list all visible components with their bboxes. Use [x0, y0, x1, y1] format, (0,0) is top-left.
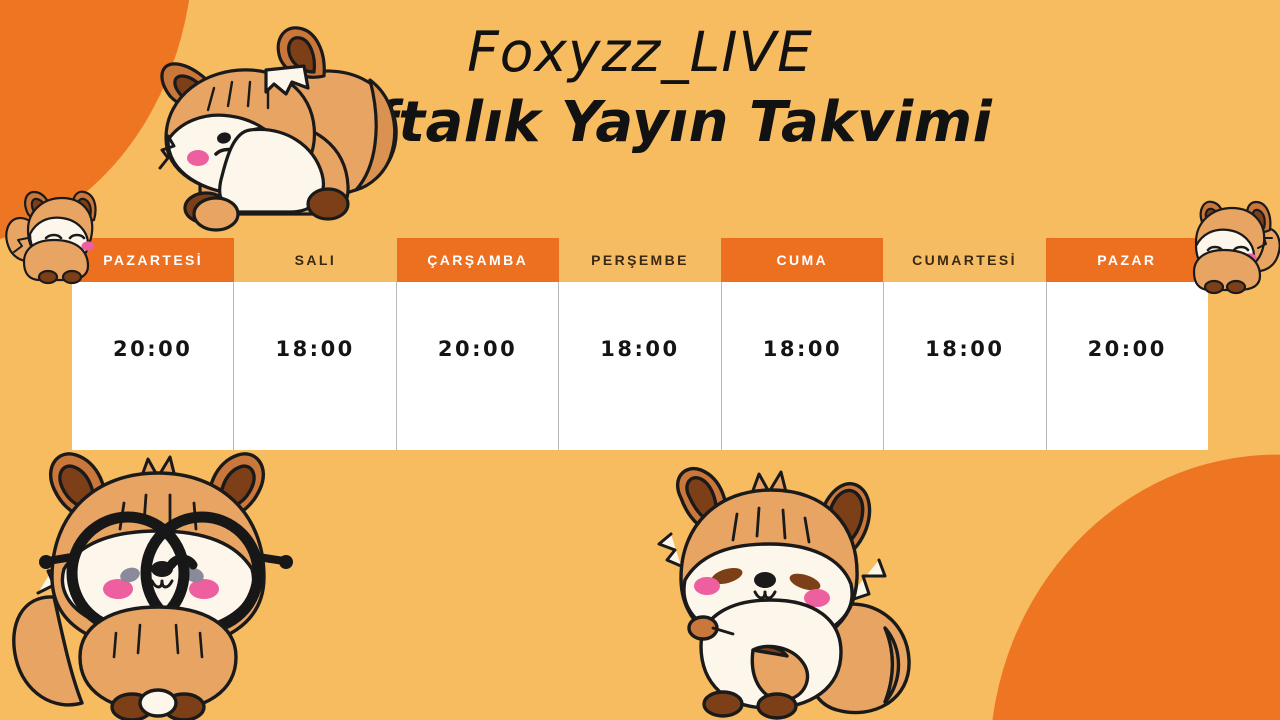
day-header-pazartesi[interactable]: PAZARTESİ [72, 238, 234, 282]
day-header-persembe[interactable]: PERŞEMBE [559, 238, 721, 282]
fox-standing-icon [645, 462, 920, 720]
schedule-cell-cuma[interactable]: 18:00 [722, 282, 884, 450]
weekly-schedule-table: PAZARTESİ SALI ÇARŞAMBA PERŞEMBE CUMA CU… [72, 238, 1208, 450]
schedule-cell-persembe[interactable]: 18:00 [559, 282, 721, 450]
stream-time-persembe: 18:00 [600, 337, 679, 361]
stream-time-cumartesi: 18:00 [925, 337, 1004, 361]
table-header-row: PAZARTESİ SALI ÇARŞAMBA PERŞEMBE CUMA CU… [72, 238, 1208, 282]
stream-time-sali: 18:00 [275, 337, 354, 361]
schedule-cell-pazar[interactable]: 20:00 [1047, 282, 1208, 450]
table-body-row: 20:00 18:00 20:00 18:00 18:00 18:00 20:0… [72, 282, 1208, 450]
stream-time-pazar: 20:00 [1088, 337, 1167, 361]
title-subtitle: Haftalık Yayın Takvimi [0, 88, 1280, 158]
schedule-cell-sali[interactable]: 18:00 [234, 282, 396, 450]
day-header-cuma[interactable]: CUMA [721, 238, 883, 282]
schedule-cell-carsamba[interactable]: 20:00 [397, 282, 559, 450]
stream-time-pazartesi: 20:00 [113, 337, 192, 361]
blob-bottom-right-icon [979, 427, 1280, 720]
title-channel-name: Foxyzz_LIVE [0, 24, 1280, 82]
day-header-pazar[interactable]: PAZAR [1046, 238, 1208, 282]
day-header-sali[interactable]: SALI [234, 238, 396, 282]
schedule-cell-cumartesi[interactable]: 18:00 [884, 282, 1046, 450]
day-header-carsamba[interactable]: ÇARŞAMBA [397, 238, 559, 282]
blob-bottom-right-secondary-icon [1080, 530, 1280, 720]
schedule-cell-pazartesi[interactable]: 20:00 [72, 282, 234, 450]
day-header-cumartesi[interactable]: CUMARTESİ [883, 238, 1045, 282]
stream-time-carsamba: 20:00 [438, 337, 517, 361]
poster-canvas: Foxyzz_LIVE Haftalık Yayın Takvimi [0, 0, 1280, 720]
page-title: Foxyzz_LIVE Haftalık Yayın Takvimi [0, 24, 1280, 158]
stream-time-cuma: 18:00 [763, 337, 842, 361]
fox-with-glasses-icon [8, 445, 308, 720]
